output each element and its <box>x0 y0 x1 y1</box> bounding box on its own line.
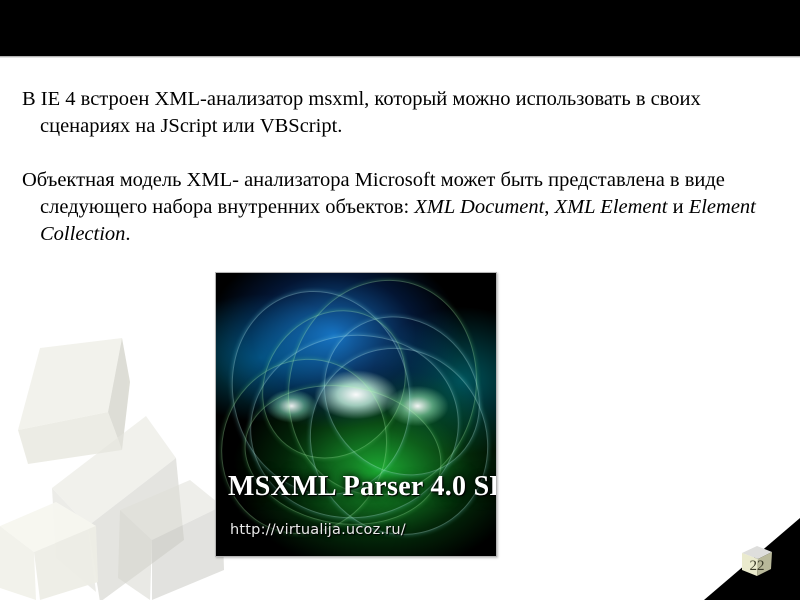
paragraph-1-text: В IE 4 встроен XML-анализатор msxml, кот… <box>22 88 701 137</box>
header-divider <box>0 56 800 58</box>
paragraph-1: В IE 4 встроен XML-анализатор msxml, кот… <box>22 86 782 140</box>
object-name-xml-element: XML Element <box>555 196 668 218</box>
msxml-parser-splash-image: MSXML Parser 4.0 SP2 http://virtualija.u… <box>215 272 497 557</box>
picture-artwork <box>216 273 496 556</box>
slide-body-text: В IE 4 встроен XML-анализатор msxml, кот… <box>22 86 782 248</box>
object-name-xml-document: XML Document <box>414 196 544 218</box>
picture-source-url: http://virtualija.ucoz.ru/ <box>230 522 406 538</box>
decorative-cubes-icon <box>0 330 250 600</box>
paragraph-2: Объектная модель XML- анализатора Micros… <box>22 167 782 248</box>
slide-canvas: IE 4 MSXML В IE 4 встроен XML-анализатор… <box>0 0 800 600</box>
header-bar <box>0 0 800 56</box>
paragraph-2-period: . <box>125 223 130 245</box>
paragraph-2-sep-1: , <box>544 196 554 218</box>
picture-product-title: MSXML Parser 4.0 SP2 <box>228 471 486 503</box>
paragraph-2-sep-2: и <box>667 196 688 218</box>
page-number-cube-icon <box>740 544 774 578</box>
